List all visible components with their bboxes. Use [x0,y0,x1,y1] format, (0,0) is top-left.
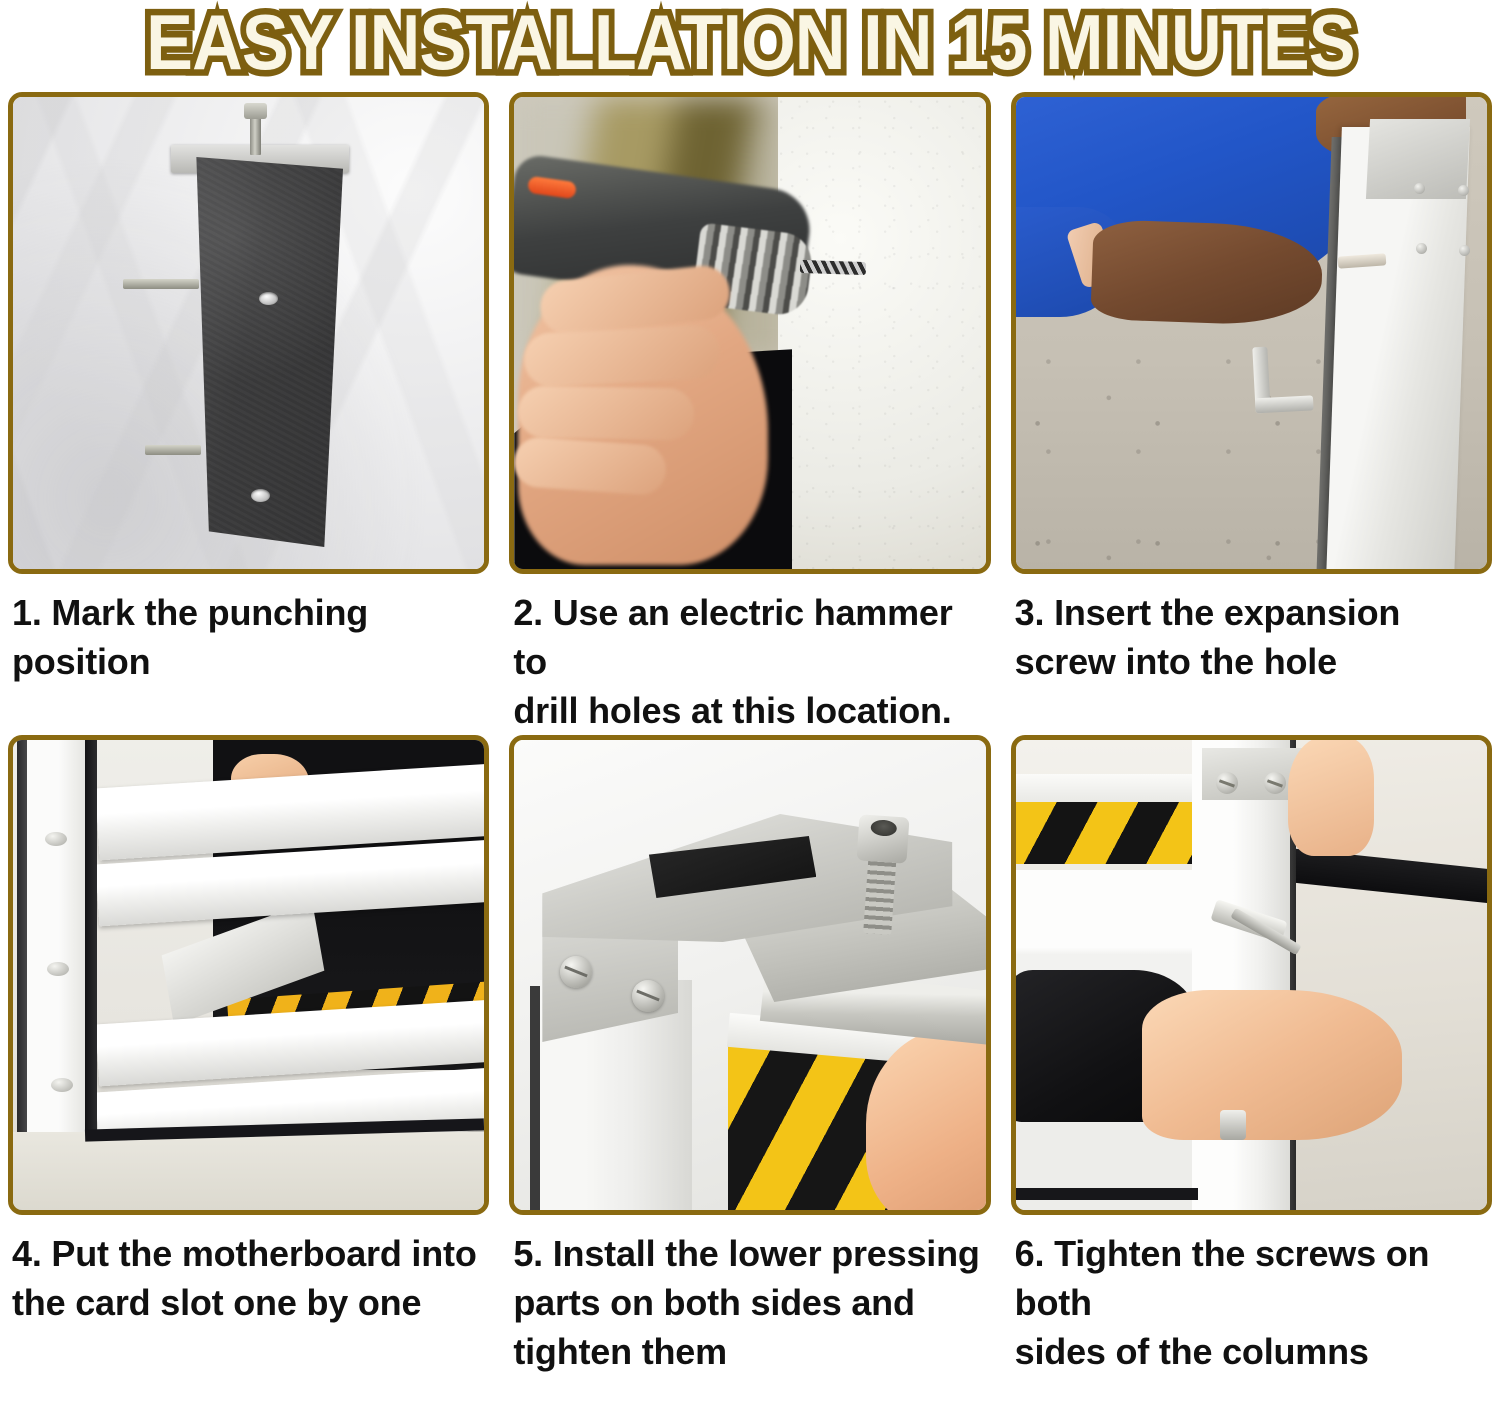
step-1-photo-frame [8,92,489,574]
drill-bit [800,260,866,275]
upper-hand [1288,740,1374,856]
step-2: 2. Use an electric hammer to drill holes… [509,92,990,735]
expansion-screw [1459,245,1470,256]
hazard-stripe [1016,802,1192,864]
mounting-hole-lower [251,489,270,502]
column-top-plate [1202,748,1302,800]
column-bolt [45,832,67,846]
column-post [187,157,343,547]
column-dark-edge [530,986,540,1210]
bolt-head [857,814,910,863]
installation-steps-row-2: 4. Put the motherboard into the card slo… [0,735,1500,1376]
step-5: 5. Install the lower pressing parts on b… [509,735,990,1376]
title-banner: EASY INSTALLATION IN 15 MINUTES [0,0,1500,92]
step-3-photo-frame [1011,92,1492,574]
drilling-photo [514,97,985,569]
step-2-photo-frame [509,92,990,574]
hand [1142,990,1402,1140]
step-4-photo-frame [8,735,489,1215]
step-3-caption: 3. Insert the expansion screw into the h… [1011,574,1492,686]
expansion-screw-photo [1016,97,1487,569]
step-6: 6. Tighten the screws on both sides of t… [1011,735,1492,1376]
finger [514,436,668,496]
lower-screw [1220,1110,1246,1140]
step-6-photo-frame [1011,735,1492,1215]
mounting-post-photo [13,97,484,569]
phillips-screw [1264,772,1286,794]
step-1: 1. Mark the punching position [8,92,489,735]
step-4: 4. Put the motherboard into the card slo… [8,735,489,1376]
tighten-screws-photo [1016,740,1487,1210]
step-5-caption: 5. Install the lower pressing parts on b… [509,1215,990,1376]
mounting-hole-upper [259,292,278,305]
page-title: EASY INSTALLATION IN 15 MINUTES [146,2,1355,82]
floor [13,1132,484,1210]
step-5-photo-frame [509,735,990,1215]
top-bolt-head [244,103,267,119]
motherboard-slot-photo [13,740,484,1210]
allen-key-on-floor [1252,347,1270,414]
finger [518,385,695,440]
expansion-screw [1416,243,1427,254]
column-bolt [47,962,69,976]
column-bolt [51,1078,73,1092]
expansion-screw [1458,185,1469,196]
white-wall [778,97,985,569]
base-rail [1016,1188,1198,1200]
side-pin-upper [123,279,199,289]
step-6-caption: 6. Tighten the screws on both sides of t… [1011,1215,1492,1376]
step-3: 3. Insert the expansion screw into the h… [1011,92,1492,735]
step-4-caption: 4. Put the motherboard into the card slo… [8,1215,489,1327]
step-1-caption: 1. Mark the punching position [8,574,489,686]
step-2-caption: 2. Use an electric hammer to drill holes… [509,574,990,735]
installation-steps-row-1: 1. Mark the punching position 2. Use an … [0,92,1500,735]
side-pin-lower [145,445,201,455]
finger [523,324,722,388]
expansion-screw [1414,183,1425,194]
phillips-screw [1216,772,1238,794]
white-board-band [1016,774,1194,804]
pressing-bracket-photo [514,740,985,1210]
